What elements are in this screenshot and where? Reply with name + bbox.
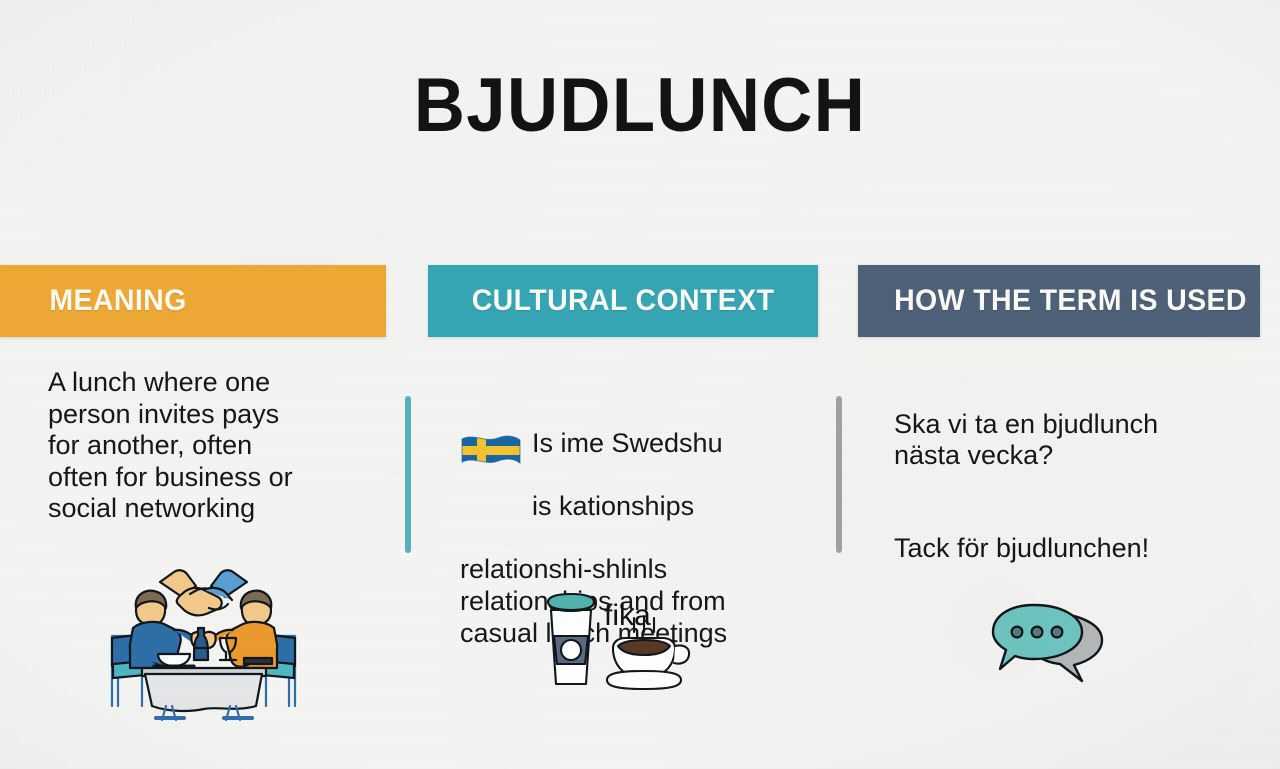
business-lunch-handshake-illustration [96,556,311,721]
column-divider-gray [836,396,842,553]
header-label-how-term-is-used: HOW THE TERM IS USED [858,284,1247,318]
header-label-meaning: MEANING [0,284,187,318]
body-text-how-term-is-used: Ska vi ta en bjudlunch nästa vecka? Tack… [858,377,1260,596]
speech-bubbles-illustration [990,597,1125,687]
swedish-flag-icon [460,397,522,480]
cultural-line-1: Is ime Swedshu [532,428,723,458]
fika-label: fika [604,601,651,631]
body-text-meaning: A lunch where one person invites pays fo… [0,367,386,525]
cultural-line-2: is kationships [532,491,694,521]
header-label-cultural-context: CULTURAL CONTEXT [428,284,774,318]
column-how-term-is-used: HOW THE TERM IS USED Ska vi ta en bjudlu… [858,265,1260,596]
usage-example-1: Ska vi ta en bjudlunch nästa vecka? [894,409,1250,472]
header-bar-cultural-context: CULTURAL CONTEXT [428,265,818,337]
column-meaning: MEANING A lunch where one person invites… [0,265,386,525]
header-bar-how-term-is-used: HOW THE TERM IS USED [858,265,1260,337]
header-bar-meaning: MEANING [0,265,386,337]
usage-example-2: Tack för bjudlunchen! [894,533,1250,565]
cultural-flag-text: Is ime Swedshu is kationships [532,397,723,523]
cultural-flag-line: Is ime Swedshu is kationships [460,397,808,523]
column-divider-teal [405,396,411,553]
page-title: BJUDLUNCH [45,68,1235,144]
